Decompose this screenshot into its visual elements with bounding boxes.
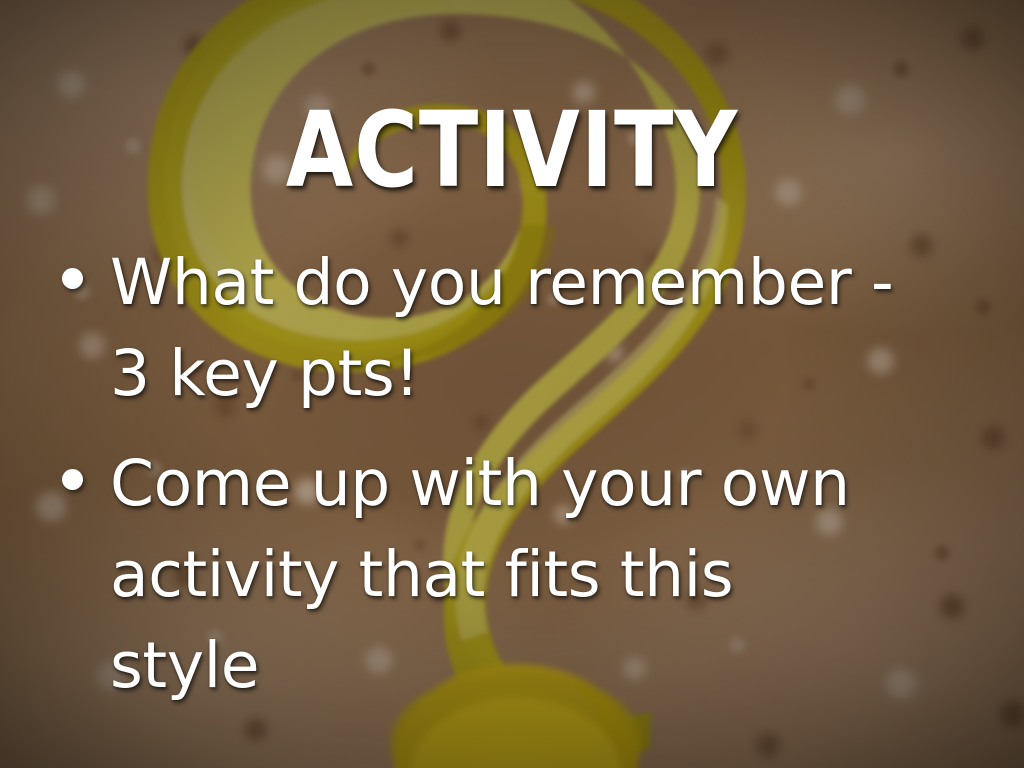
bullet-text-1: What do you remember - 3 key pts! [110, 238, 900, 419]
bullet-list: What do you remember - 3 key pts! Come u… [62, 238, 962, 732]
bullet-dot-icon [62, 268, 83, 289]
bullet-item-2: Come up with your own activity that fits… [62, 439, 962, 711]
bullet-item-1: What do you remember - 3 key pts! [62, 238, 962, 419]
bullet-dot-icon [62, 469, 83, 490]
presentation-slide: ACTIVITY What do you remember - 3 key pt… [0, 0, 1024, 768]
slide-title: ACTIVITY [36, 98, 988, 202]
bullet-text-2: Come up with your own activity that fits… [110, 439, 900, 711]
slide-content: ACTIVITY What do you remember - 3 key pt… [0, 0, 1024, 768]
